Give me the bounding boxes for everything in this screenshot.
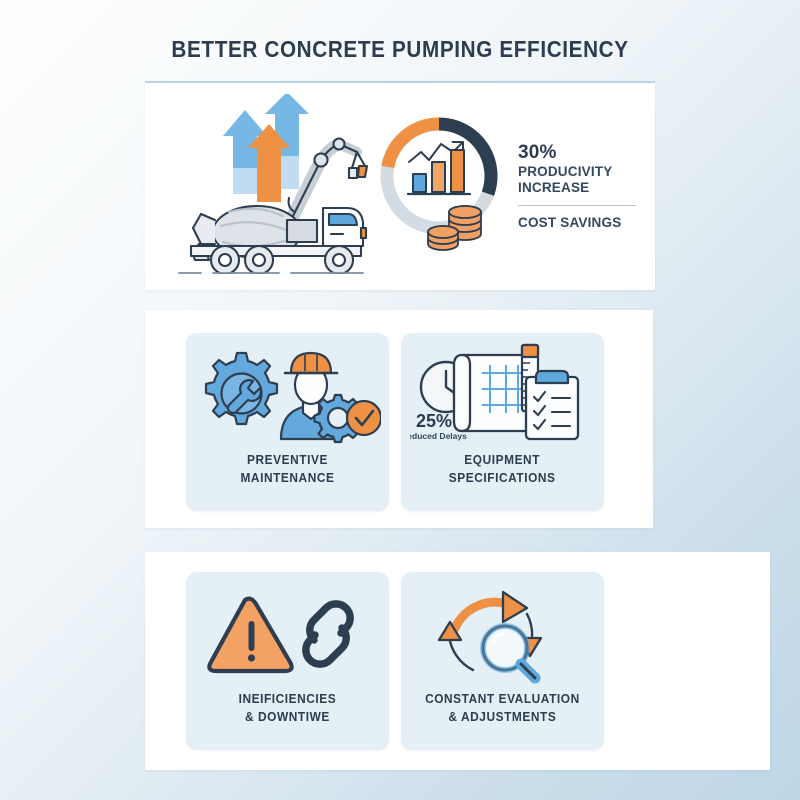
card-label-line1: EQUIPMENT	[465, 453, 541, 467]
hero-panel: 30% PRODUCIVITY INCREASE COST SAVINGS	[145, 81, 655, 290]
preventive-maintenance-art	[195, 333, 381, 451]
hero-stats-block: 30% PRODUCIVITY INCREASE COST SAVINGS	[518, 143, 636, 229]
monitoring-factors-panel: INEIFICIENCIES & DOWNTIWE	[145, 552, 770, 770]
stat-divider	[518, 205, 636, 206]
warning-triangle-icon	[209, 599, 291, 671]
bar-chart-growth-icon	[408, 142, 470, 194]
productivity-donut-chart	[379, 114, 504, 259]
concrete-mixer-truck-icon	[171, 94, 371, 279]
page-title: BETTER CONCRETE PUMPING EFFICIENCY	[171, 36, 628, 63]
card-label-line1: PREVENTIVE	[247, 453, 328, 467]
stat-value: 30%	[518, 143, 636, 164]
hero-row: 30% PRODUCIVITY INCREASE COST SAVINGS	[145, 83, 655, 290]
broken-link-icon	[305, 604, 349, 664]
improvement-cards-row: PREVENTIVE MAINTENANCE	[186, 333, 604, 511]
card-label-line1: CONSTANT EVALUATION	[425, 692, 580, 706]
stat-label-line1: PRODUCIVITY	[518, 164, 636, 180]
reduced-delays-caption: Reduced Delays	[410, 431, 467, 441]
coin-stack-icon	[428, 206, 481, 250]
card-label-constant-evaluation: CONSTANT EVALUATION & ADJUSTMENTS	[425, 690, 580, 726]
gear-wrench-icon	[206, 353, 277, 424]
card-label-equipment-specifications: EQUIPMENT SPECIFICATIONS	[449, 451, 556, 487]
card-equipment-specifications[interactable]: 25% Reduced Delays EQUIPMENT SPECIFICATI…	[401, 333, 604, 511]
clipboard-checklist-icon	[526, 371, 578, 439]
reduced-delays-value: 25%	[415, 411, 451, 431]
equipment-specifications-art: 25% Reduced Delays	[410, 333, 596, 451]
card-label-line2: SPECIFICATIONS	[449, 469, 556, 487]
card-label-line2: MAINTENANCE	[240, 469, 334, 487]
card-inefficiencies-downtime[interactable]: INEIFICIENCIES & DOWNTIWE	[186, 572, 389, 750]
inefficiencies-downtime-art	[198, 572, 378, 690]
check-circle-icon	[347, 401, 381, 435]
stat-footer: COST SAVINGS	[518, 215, 636, 230]
card-label-inefficiencies-downtime: INEIFICIENCIES & DOWNTIWE	[239, 690, 337, 726]
donut-segment-navy	[439, 124, 491, 194]
monitoring-cards-row: INEIFICIENCIES & DOWNTIWE	[186, 572, 604, 750]
page-title-wrap: BETTER CONCRETE PUMPING EFFICIENCY	[0, 36, 800, 63]
card-preventive-maintenance[interactable]: PREVENTIVE MAINTENANCE	[186, 333, 389, 511]
constant-evaluation-art	[423, 572, 583, 690]
card-label-line2: & ADJUSTMENTS	[425, 708, 580, 726]
card-constant-evaluation[interactable]: CONSTANT EVALUATION & ADJUSTMENTS	[401, 572, 604, 750]
blueprint-icon	[454, 355, 530, 431]
infographic-canvas: BETTER CONCRETE PUMPING EFFICIENCY	[0, 0, 800, 800]
card-label-line1: INEIFICIENCIES	[239, 692, 337, 706]
improvement-factors-panel: PREVENTIVE MAINTENANCE	[145, 310, 653, 528]
stat-label-line2: INCREASE	[518, 180, 636, 196]
donut-segment-orange	[388, 124, 439, 167]
magnifying-glass-icon	[483, 626, 535, 678]
card-label-line2: & DOWNTIWE	[239, 708, 337, 726]
card-label-preventive-maintenance: PREVENTIVE MAINTENANCE	[240, 451, 334, 487]
